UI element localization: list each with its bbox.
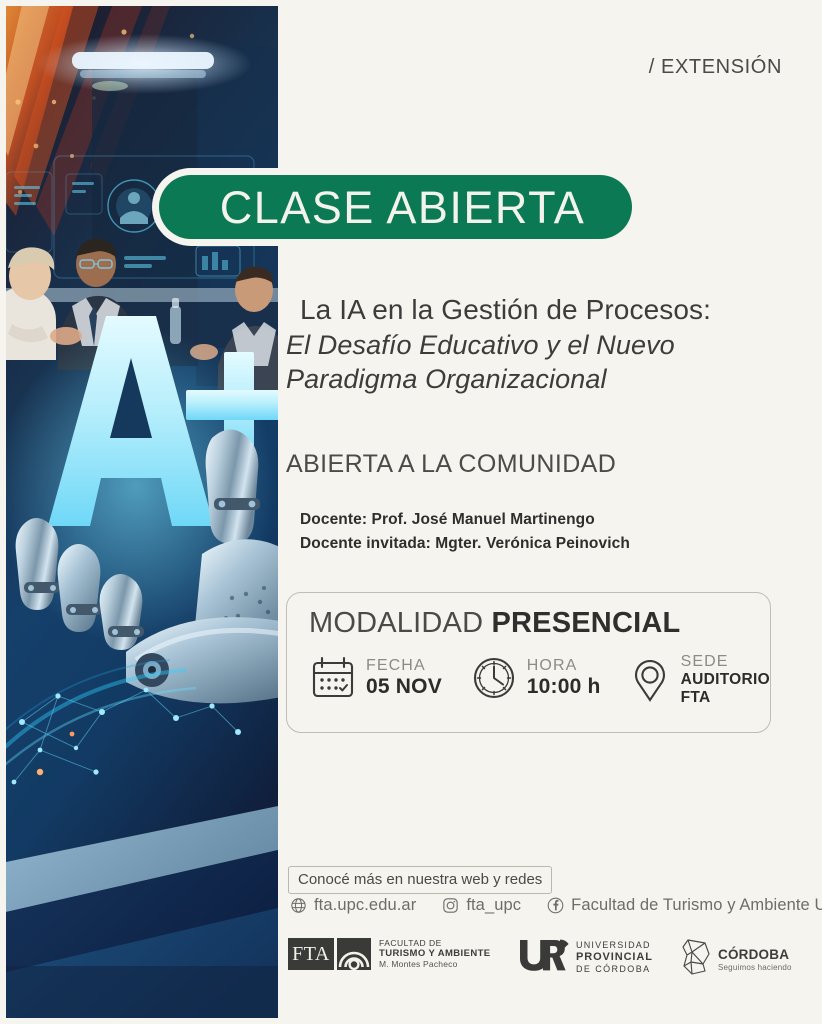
- teacher-guest: Docente invitada: Mgter. Verónica Peinov…: [300, 532, 630, 556]
- fecha-label: FECHA: [366, 658, 442, 675]
- teachers-block: Docente: Prof. José Manuel Martinengo Do…: [300, 508, 630, 556]
- cta-pill[interactable]: Conocé más en nuestra web y redes: [288, 866, 552, 894]
- social-item-web[interactable]: fta.upc.edu.ar: [290, 896, 416, 915]
- modality-prefix: MODALIDAD: [309, 607, 483, 639]
- sede-value-2: FTA: [681, 689, 770, 707]
- location-pin-icon: [628, 657, 672, 705]
- fta-line-1: FACULTAD DE: [379, 939, 491, 949]
- fecha-text: FECHA 05 NOV: [366, 658, 442, 698]
- logo-fta: FTA FACULTAD DE TURISMO Y AMBIENTE M. M: [288, 938, 491, 970]
- hora-value: 10:00 h: [527, 675, 601, 699]
- community-note: ABIERTA A LA COMUNIDAD: [286, 450, 616, 479]
- badge-fill: CLASE ABIERTA: [159, 175, 632, 239]
- fta-wordmark: FACULTAD DE TURISMO Y AMBIENTE M. Montes…: [379, 939, 491, 970]
- cordoba-line-2: Seguimos haciendo: [718, 963, 792, 972]
- logo-bar: FTA FACULTAD DE TURISMO Y AMBIENTE M. M: [286, 934, 796, 984]
- fta-line-3: M. Montes Pacheco: [379, 960, 491, 970]
- upc-line-1: UNIVERSIDAD: [576, 940, 653, 951]
- poster-canvas: / EXTENSIÓN CLASE ABIERTA La IA en la Ge…: [0, 0, 822, 1024]
- logo-upc: UNIVERSIDAD PROVINCIAL DE CÓRDOBA: [518, 938, 653, 977]
- content-column: La IA en la Gestión de Procesos: El Desa…: [286, 0, 796, 1024]
- globe-icon: [290, 897, 307, 914]
- info-item-sede: SEDE AUDITORIO FTA: [628, 654, 770, 707]
- modality-heading: MODALIDAD PRESENCIAL: [309, 607, 770, 640]
- cordoba-wordmark: CÓRDOBA Seguimos haciendo: [718, 947, 792, 972]
- facebook-icon: [547, 897, 564, 914]
- fta-monogram: FTA: [288, 938, 334, 970]
- teacher-main: Docente: Prof. José Manuel Martinengo: [300, 508, 630, 532]
- web-label: fta.upc.edu.ar: [314, 896, 416, 915]
- cordoba-line-1: CÓRDOBA: [718, 947, 792, 963]
- sede-value: AUDITORIO: [681, 671, 770, 689]
- ai-robot-meeting-photo: [6, 6, 278, 1018]
- facebook-label: Facultad de Turismo y Ambiente UPC: [571, 896, 822, 915]
- social-item-instagram[interactable]: fta_upc: [442, 896, 521, 915]
- cordoba-province-icon: [679, 938, 713, 981]
- fta-arch-icon: [337, 938, 371, 970]
- info-item-hora: HORA 10:00 h: [470, 654, 628, 702]
- upc-wordmark: UNIVERSIDAD PROVINCIAL DE CÓRDOBA: [576, 940, 653, 975]
- fta-line-2: TURISMO Y AMBIENTE: [379, 948, 491, 959]
- logo-cordoba: CÓRDOBA Seguimos haciendo: [679, 938, 792, 981]
- info-item-fecha: FECHA 05 NOV: [309, 654, 470, 702]
- event-title: La IA en la Gestión de Procesos: El Desa…: [286, 292, 786, 397]
- instagram-label: fta_upc: [466, 896, 521, 915]
- fecha-value: 05 NOV: [366, 675, 442, 699]
- modality-card: MODALIDAD PRESENCIAL: [286, 592, 771, 733]
- title-line-1: La IA en la Gestión de Procesos:: [286, 292, 786, 328]
- modality-info-row: FECHA 05 NOV: [309, 654, 770, 707]
- calendar-icon: [309, 654, 357, 702]
- title-line-2: El Desafío Educativo y el Nuevo: [286, 328, 786, 363]
- sede-text: SEDE AUDITORIO FTA: [681, 654, 770, 707]
- hora-label: HORA: [527, 658, 601, 675]
- social-row: fta.upc.edu.ar fta_upc Facultad de Turis…: [290, 896, 822, 915]
- clock-icon: [470, 654, 518, 702]
- upc-line-2: PROVINCIAL: [576, 951, 653, 964]
- upc-monogram-icon: [518, 938, 570, 977]
- social-item-facebook[interactable]: Facultad de Turismo y Ambiente UPC: [547, 896, 822, 915]
- modality-value: PRESENCIAL: [491, 607, 680, 639]
- badge-label: CLASE ABIERTA: [206, 185, 585, 230]
- title-line-3: Paradigma Organizacional: [286, 362, 786, 397]
- hora-text: HORA 10:00 h: [527, 658, 601, 698]
- sede-label: SEDE: [681, 654, 770, 671]
- instagram-icon: [442, 897, 459, 914]
- upc-line-3: DE CÓRDOBA: [576, 964, 653, 975]
- clase-abierta-badge: CLASE ABIERTA: [152, 168, 639, 246]
